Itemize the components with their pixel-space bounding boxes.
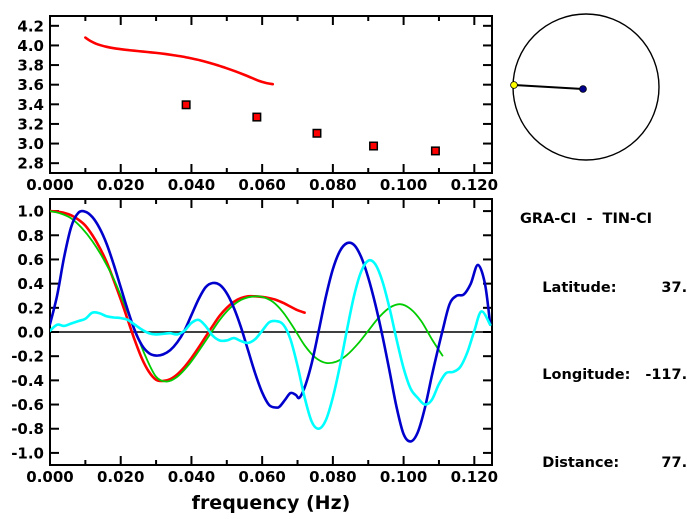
info-key-latitude: Latitude: xyxy=(542,280,634,297)
xtick-label: 0.080 xyxy=(309,468,356,486)
xtick-label: 0.020 xyxy=(97,176,144,194)
ytick-label: -0.8 xyxy=(11,420,44,438)
ytick-label: 0.2 xyxy=(17,299,44,317)
station-marker-yellow xyxy=(511,82,518,89)
data-marker xyxy=(371,143,377,149)
data-marker xyxy=(432,148,438,154)
panel-dispersion: 0.0000.0200.0400.0600.0800.1000.1202.83.… xyxy=(17,16,498,194)
xtick-label: 0.120 xyxy=(451,468,498,486)
ytick-label: -0.6 xyxy=(11,396,44,414)
great-circle-path-line xyxy=(514,85,583,89)
xtick-label: 0.100 xyxy=(380,176,427,194)
data-marker xyxy=(254,114,260,120)
ytick-label: 3.6 xyxy=(17,76,44,94)
series-group-dispersion xyxy=(85,38,440,156)
plot-frame-dispersion xyxy=(50,16,492,173)
station-pair-title: GRA-CI - TIN-CI xyxy=(512,211,687,228)
xtick-label: 0.080 xyxy=(309,176,356,194)
xtick-label: 0.100 xyxy=(380,468,427,486)
xtick-label: 0.060 xyxy=(238,176,285,194)
xtick-label: 0.040 xyxy=(168,468,215,486)
ytick-label: 2.8 xyxy=(17,155,44,173)
data-marker xyxy=(314,130,320,136)
ytick-label: 3.0 xyxy=(17,135,44,153)
ytick-label: 3.8 xyxy=(17,57,44,75)
xtick-label: 0.000 xyxy=(26,176,73,194)
info-value-longitude: -117.37 xyxy=(634,367,687,384)
xtick-label: 0.040 xyxy=(168,176,215,194)
ytick-label: 3.4 xyxy=(17,96,44,114)
ytick-label: 1.0 xyxy=(17,203,44,221)
ytick-label: -1.0 xyxy=(11,444,44,462)
ytick-label: -0.4 xyxy=(11,372,44,390)
ytick-label: 4.0 xyxy=(17,37,44,55)
ytick-label: 4.2 xyxy=(17,17,44,35)
ytick-label: 0.8 xyxy=(17,227,44,245)
data-marker xyxy=(183,102,189,108)
info-key-distance: Distance: xyxy=(542,455,634,472)
figure-canvas: 0.0000.0200.0400.0600.0800.1000.1202.83.… xyxy=(0,0,687,519)
info-row-latitude: Latitude:37.00 xyxy=(512,263,687,315)
xaxis-label: frequency (Hz) xyxy=(192,492,351,514)
xtick-label: 0.120 xyxy=(451,176,498,194)
series-group-cross-correlation-spectra xyxy=(50,211,490,441)
ytick-label: 0.6 xyxy=(17,251,44,269)
great-circle-map xyxy=(511,14,659,160)
info-row-distance: Distance:77.16 xyxy=(512,437,687,489)
ytick-label: 0.0 xyxy=(17,324,44,342)
xtick-label: 0.000 xyxy=(26,468,73,486)
info-key-longitude: Longitude: xyxy=(542,367,634,384)
info-value-latitude: 37.00 xyxy=(634,280,687,297)
station-pair-info-panel: GRA-CI - TIN-CI Latitude:37.00 Longitude… xyxy=(512,176,687,519)
xtick-label: 0.020 xyxy=(97,468,144,486)
series-phase-velocity-curve xyxy=(85,38,272,85)
info-row-longitude: Longitude:-117.37 xyxy=(512,350,687,402)
panel-cross-correlation-spectra: 0.0000.0200.0400.0600.0800.1000.120-1.0-… xyxy=(11,199,498,514)
xtick-label: 0.060 xyxy=(238,468,285,486)
station-marker-blue xyxy=(580,86,587,93)
ytick-label: 0.4 xyxy=(17,275,44,293)
ytick-label: 3.2 xyxy=(17,115,44,133)
ytick-label: -0.2 xyxy=(11,348,44,366)
info-value-distance: 77.16 xyxy=(634,455,687,472)
